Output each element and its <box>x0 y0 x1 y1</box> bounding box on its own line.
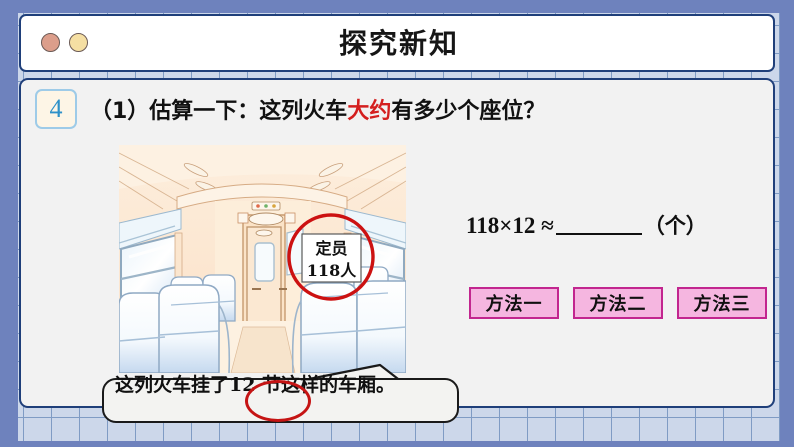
exercise-number-badge: 4 <box>35 89 77 129</box>
title-bar: 探究新知 <box>19 14 775 72</box>
placard-line-1: 定员 <box>314 239 347 258</box>
question-prefix: （1）估算一下：这列火车 <box>90 99 347 124</box>
question-highlight: 大约 <box>347 99 391 124</box>
train-interior-image: 定员 118人 <box>119 145 406 373</box>
placard-line-2: 118人 <box>307 261 357 280</box>
estimation-equation: 118×12 ≈（个） <box>466 210 707 240</box>
caption-callout: 这列火车挂了12 节这样的车厢。 <box>99 362 499 442</box>
slide-margin-left <box>0 0 18 447</box>
equation-expression: 118×12 ≈ <box>466 213 554 238</box>
method-one-button[interactable]: 方法一 <box>469 287 559 319</box>
equation-answer-blank[interactable] <box>556 233 642 235</box>
method-button-group: 方法一 方法二 方法三 <box>469 287 767 319</box>
slide-margin-right <box>780 0 794 447</box>
slide-root: 探究新知 4 （1）估算一下：这列火车大约有多少个座位？ <box>0 0 794 447</box>
method-three-button[interactable]: 方法三 <box>677 287 767 319</box>
equation-unit: （个） <box>644 214 707 238</box>
page-title: 探究新知 <box>21 16 777 74</box>
question-row: 4 （1）估算一下：这列火车大约有多少个座位？ <box>35 89 545 129</box>
caption-emphasis-circle <box>245 380 311 422</box>
content-panel: 4 （1）估算一下：这列火车大约有多少个座位？ <box>19 78 775 408</box>
question-suffix: 有多少个座位？ <box>391 99 545 124</box>
slide-margin-top <box>0 0 794 13</box>
method-two-button[interactable]: 方法二 <box>573 287 663 319</box>
question-text: （1）估算一下：这列火车大约有多少个座位？ <box>90 93 545 125</box>
